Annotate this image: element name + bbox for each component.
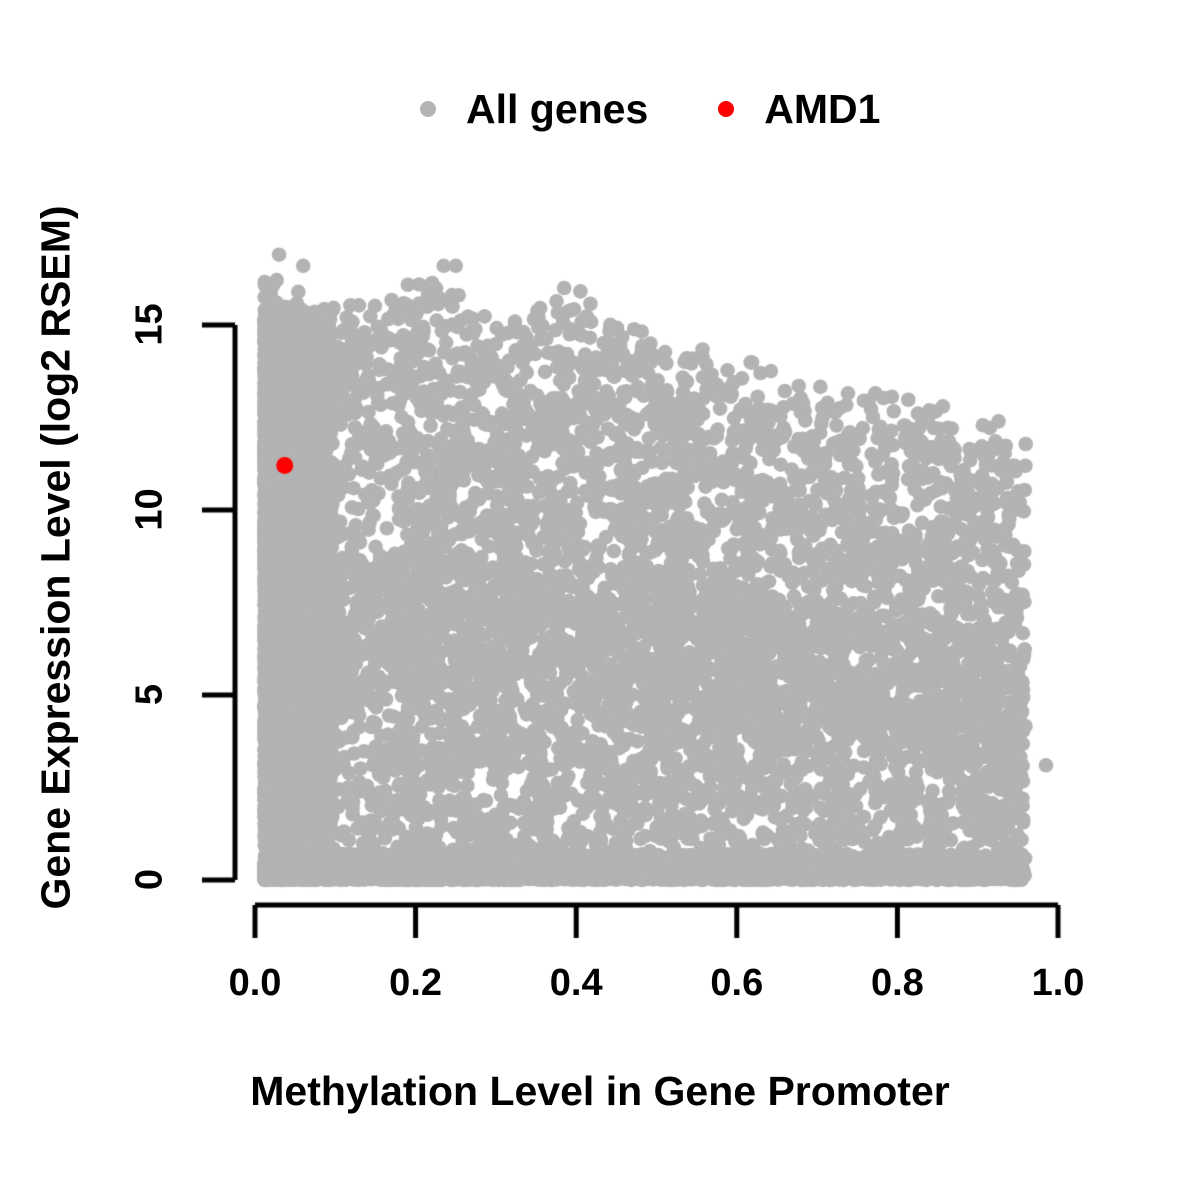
x-tick-label: 1.0 — [1032, 962, 1085, 1005]
y-axis-title: Gene Expression Level (log2 RSEM) — [33, 158, 80, 958]
legend-marker-amd1 — [718, 101, 734, 117]
legend-label-all-genes: All genes — [466, 89, 648, 130]
x-tick-label: 0.0 — [229, 962, 282, 1005]
x-tick-label: 0.2 — [389, 962, 442, 1005]
legend-label-amd1: AMD1 — [764, 89, 880, 130]
scatter-plot-figure: All genes AMD1 0.00.20.40.60.81.0 051015… — [0, 0, 1200, 1200]
x-tick-label: 0.8 — [871, 962, 924, 1005]
y-tick-label: 10 — [129, 480, 172, 540]
x-tick-label: 0.6 — [710, 962, 763, 1005]
x-tick-label: 0.4 — [550, 962, 603, 1005]
legend-marker-all-genes — [420, 101, 436, 117]
y-tick-label: 0 — [129, 850, 172, 910]
legend: All genes AMD1 — [420, 78, 890, 140]
y-tick-label: 15 — [129, 295, 172, 355]
y-tick-label: 5 — [129, 665, 172, 725]
x-axis-title: Methylation Level in Gene Promoter — [0, 1068, 1200, 1115]
legend-entry-amd1: AMD1 — [718, 89, 880, 130]
scatter-plot-canvas — [0, 0, 1200, 1200]
legend-entry-all-genes: All genes — [420, 89, 648, 130]
